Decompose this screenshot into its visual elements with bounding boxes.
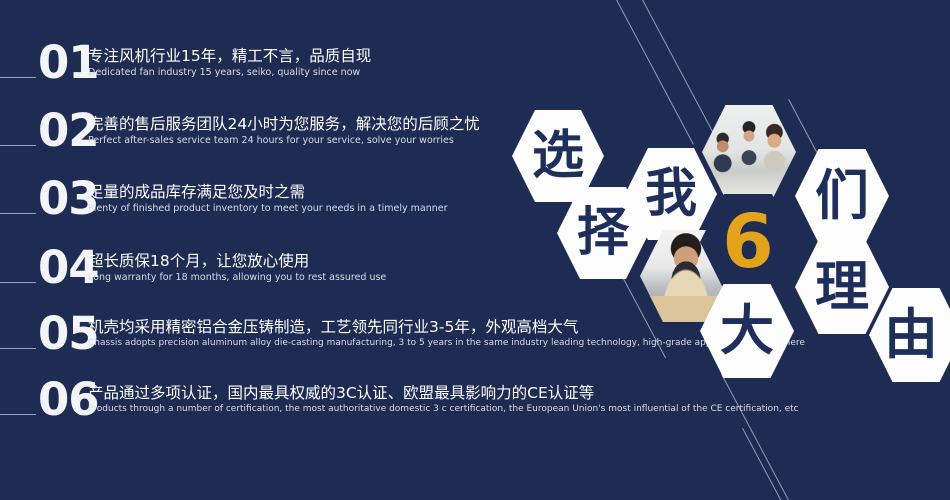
reason-rule bbox=[0, 414, 36, 415]
reason-title-cn: 专注风机行业15年，精工不言，品质自现 bbox=[88, 46, 371, 66]
reason-rule bbox=[0, 145, 36, 146]
reason-title-en: Dedicated fan industry 15 years, seiko, … bbox=[88, 66, 371, 79]
reason-rule bbox=[0, 282, 36, 283]
reason-text: 产品通过多项认证，国内最具权威的3C认证、欧盟最具影响力的CE认证等 Produ… bbox=[88, 383, 799, 416]
hex-you: 由 bbox=[869, 288, 950, 382]
reason-text: 专注风机行业15年，精工不言，品质自现 Dedicated fan indust… bbox=[88, 46, 371, 79]
hex-glyph-li: 理 bbox=[815, 260, 869, 314]
reason-text: 完善的售后服务团队24小时为您服务，解决您的后顾之忧 Perfect after… bbox=[88, 114, 480, 147]
reason-text: 超长质保18个月，让您放心使用 Long warranty for 18 mon… bbox=[88, 251, 386, 284]
reason-title-cn: 机壳均采用精密铝合金压铸制造，工艺领先同行业3-5年，外观高档大气 bbox=[88, 317, 805, 337]
hex-li: 理 bbox=[795, 240, 889, 334]
diagonal-line-3 bbox=[788, 99, 817, 153]
reason-title-en: Chassis adopts precision aluminum alloy … bbox=[88, 337, 805, 350]
reason-title-en: Products through a number of certificati… bbox=[88, 403, 799, 416]
hex-six: 6 bbox=[700, 194, 796, 290]
reason-title-cn: 足量的成品库存满足您及时之需 bbox=[88, 182, 448, 202]
hex-glyph-six: 6 bbox=[722, 205, 774, 279]
hex-photo-team bbox=[702, 105, 796, 199]
reason-rule bbox=[0, 213, 36, 214]
reason-title-en: Long warranty for 18 months, allowing yo… bbox=[88, 271, 386, 284]
reason-list: 01 专注风机行业15年，精工不言，品质自现 Dedicated fan ind… bbox=[0, 0, 700, 500]
reason-rule bbox=[0, 348, 36, 349]
reason-text: 机壳均采用精密铝合金压铸制造，工艺领先同行业3-5年，外观高档大气 Chassi… bbox=[88, 317, 805, 350]
hex-men: 们 bbox=[795, 149, 889, 243]
reason-title-en: Perfect after-sales service team 24 hour… bbox=[88, 134, 480, 147]
reason-title-en: Plenty of finished product inventory to … bbox=[88, 202, 448, 215]
reason-title-cn: 完善的售后服务团队24小时为您服务，解决您的后顾之忧 bbox=[88, 114, 480, 134]
reason-title-cn: 超长质保18个月，让您放心使用 bbox=[88, 251, 386, 271]
hex-glyph-you: 由 bbox=[884, 308, 938, 362]
reason-title-cn: 产品通过多项认证，国内最具权威的3C认证、欧盟最具影响力的CE认证等 bbox=[88, 383, 799, 403]
banner-canvas: 01 专注风机行业15年，精工不言，品质自现 Dedicated fan ind… bbox=[0, 0, 950, 500]
reason-text: 足量的成品库存满足您及时之需 Plenty of finished produc… bbox=[88, 182, 448, 215]
reason-rule bbox=[0, 77, 36, 78]
hex-glyph-men: 们 bbox=[815, 169, 869, 223]
